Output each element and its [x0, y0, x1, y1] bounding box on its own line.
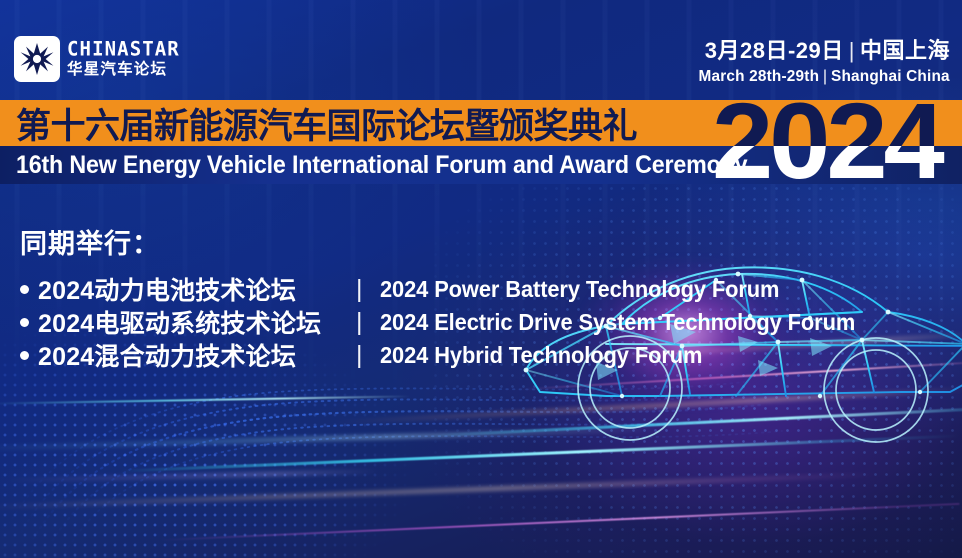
agenda-item-cn: 2024混合动力技术论坛 — [38, 337, 296, 373]
agenda-heading: 同期举行： — [20, 222, 321, 261]
agenda-item-cn: 2024动力电池技术论坛 — [38, 271, 296, 307]
event-meta-en: March 28th-29th|Shanghai China — [699, 69, 950, 85]
bullet-icon — [20, 285, 29, 294]
agenda-item-en: 2024 Electric Drive System Technology Fo… — [380, 309, 855, 336]
event-location-cn: 中国上海 — [860, 38, 950, 63]
event-meta: 3月28日-29日|中国上海 March 28th-29th|Shanghai … — [688, 40, 950, 85]
chinastar-star-emblem-icon — [14, 36, 60, 82]
agenda-item: 2024电驱动系统技术论坛 | 2024 Electric Drive Syst… — [20, 306, 321, 338]
agenda-item-en: 2024 Hybrid Technology Forum — [380, 342, 702, 369]
agenda-item-cn: 2024电驱动系统技术论坛 — [38, 304, 321, 340]
meta-separator-en: | — [819, 68, 831, 85]
agenda-separator: | — [356, 341, 363, 370]
agenda-separator: | — [356, 275, 363, 304]
brand-name-en: CHINASTAR — [67, 40, 180, 60]
event-date-en: March 28th-29th — [699, 68, 820, 85]
agenda-item-en: 2024 Power Battery Technology Forum — [380, 276, 779, 303]
agenda-item: 2024混合动力技术论坛 | 2024 Hybrid Technology Fo… — [20, 339, 321, 371]
event-location-en: Shanghai China — [831, 68, 950, 85]
agenda-item: 2024动力电池技术论坛 | 2024 Power Battery Techno… — [20, 273, 321, 305]
bullet-icon — [20, 351, 29, 360]
brand-name-cn: 华星汽车论坛 — [67, 62, 180, 78]
meta-separator-cn: | — [844, 38, 860, 63]
agenda-block: 同期举行： 2024动力电池技术论坛 | 2024 Power Battery … — [20, 222, 321, 372]
event-poster: CHINASTAR 华星汽车论坛 3月28日-29日|中国上海 March 28… — [0, 0, 962, 558]
brand-logo: CHINASTAR 华星汽车论坛 — [14, 36, 180, 82]
wireframe-car-icon — [510, 220, 962, 520]
event-title-en: 16th New Energy Vehicle International Fo… — [16, 146, 747, 184]
event-meta-cn: 3月28日-29日|中国上海 — [688, 40, 950, 62]
bullet-icon — [20, 318, 29, 327]
agenda-separator: | — [356, 308, 363, 337]
event-date-cn: 3月28日-29日 — [705, 38, 844, 63]
event-title-cn: 第十六届新能源汽车国际论坛暨颁奖典礼 — [16, 100, 637, 146]
